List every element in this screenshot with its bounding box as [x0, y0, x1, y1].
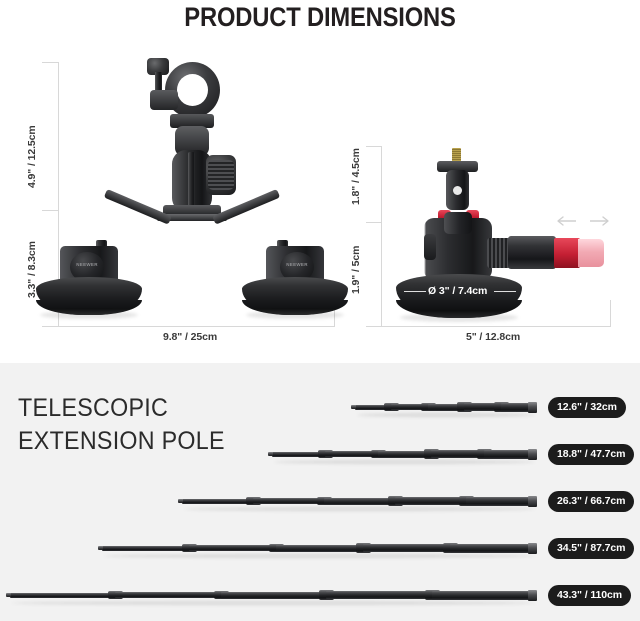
- pole-shadow: [184, 507, 535, 511]
- pole-tip-nub: [351, 405, 356, 408]
- pole-segment: [102, 546, 189, 551]
- left-bracket-tick-bottom: [42, 326, 59, 327]
- pole-segment: [363, 544, 450, 552]
- ball-head-knob-grip: [208, 160, 234, 190]
- pole-segment: [466, 497, 537, 506]
- left-bracket-horizontal: [58, 326, 334, 327]
- clamp-ring-inner: [177, 74, 208, 106]
- cup-diameter-label: Ø 3" / 7.4cm: [428, 285, 487, 297]
- pole-segment: [326, 591, 431, 599]
- right-upper-height-label: 1.8" / 4.5cm: [350, 148, 362, 205]
- pole-length-badge: 18.8" / 47.7cm: [548, 444, 634, 465]
- pole-section-title-line1: TELESCOPIC: [18, 394, 168, 422]
- right-bracket-tick-mid: [366, 222, 382, 223]
- pole-tip-nub: [6, 593, 11, 596]
- mount-body-side-notch: [424, 234, 436, 260]
- pump-handle-red: [554, 238, 580, 268]
- pole-segment: [221, 592, 326, 599]
- mount-yoke-hole: [453, 186, 462, 195]
- foot-left-shadow: [40, 311, 138, 319]
- left-bracket-tick-mid: [42, 210, 59, 211]
- pump-barrel: [508, 236, 556, 269]
- pole-segment: [395, 497, 466, 505]
- left-bracket-tick-top: [42, 62, 59, 63]
- right-width-label: 5" / 12.8cm: [466, 331, 520, 343]
- diameter-tick-left: [404, 291, 426, 292]
- right-bracket-horizontal: [381, 326, 610, 327]
- pole-segment: [182, 499, 253, 504]
- diameter-tick-right: [494, 291, 516, 292]
- foot-right-brand-text: NEEWER: [280, 262, 314, 267]
- pole-section-title-line2: EXTENSION POLE: [18, 427, 225, 455]
- pole-length-badge: 26.3" / 66.7cm: [548, 491, 634, 512]
- right-lower-height-label: 1.9" / 5cm: [350, 246, 362, 294]
- clamp-hinge-block: [150, 90, 178, 110]
- foot-left-brand-text: NEEWER: [70, 262, 104, 267]
- mount-body-neck: [444, 212, 472, 234]
- pole-length-badge: 34.5" / 87.7cm: [548, 538, 634, 559]
- right-cup-shadow: [400, 313, 518, 322]
- pole-segment: [432, 591, 537, 600]
- pump-direction-arrow-icon: [552, 212, 614, 230]
- pole-shadow: [357, 413, 535, 417]
- right-bracket-vertical: [381, 146, 382, 327]
- right-bracket-tick-right: [610, 300, 611, 327]
- pole-segment: [115, 592, 220, 598]
- pole-end-cap: [528, 402, 537, 413]
- pole-end-cap: [528, 543, 537, 554]
- pump-handle-tip: [578, 239, 604, 267]
- foot-right-shadow: [246, 311, 344, 319]
- right-bracket-tick-top: [366, 146, 382, 147]
- pole-tip-nub: [178, 499, 183, 502]
- quarter-inch-screw: [452, 148, 461, 162]
- page-title: PRODUCT DIMENSIONS: [38, 2, 601, 33]
- pole-segment: [450, 544, 537, 553]
- pole-tip-nub: [268, 452, 273, 455]
- pole-shadow: [104, 554, 535, 558]
- pole-length-badge: 12.6" / 32cm: [548, 397, 626, 418]
- pole-section-title: TELESCOPIC EXTENSION POLE: [18, 392, 225, 458]
- pole-segment: [189, 545, 276, 551]
- left-width-label: 9.8" / 25cm: [163, 331, 217, 343]
- left-upper-height-label: 4.9" / 12.5cm: [26, 125, 38, 188]
- pole-end-cap: [528, 590, 537, 601]
- pole-end-cap: [528, 496, 537, 507]
- pole-shadow: [274, 460, 535, 464]
- ball-head-center-rod: [188, 152, 195, 210]
- pole-segment: [10, 593, 115, 598]
- pole-end-cap: [528, 449, 537, 460]
- pole-length-badge: 43.3" / 110cm: [548, 585, 631, 606]
- pole-segment: [324, 498, 395, 505]
- pole-shadow: [12, 601, 535, 605]
- right-bracket-tick-bottom: [366, 326, 382, 327]
- pole-segment: [253, 498, 324, 504]
- pole-segment: [276, 545, 363, 552]
- pole-tip-nub: [98, 546, 103, 549]
